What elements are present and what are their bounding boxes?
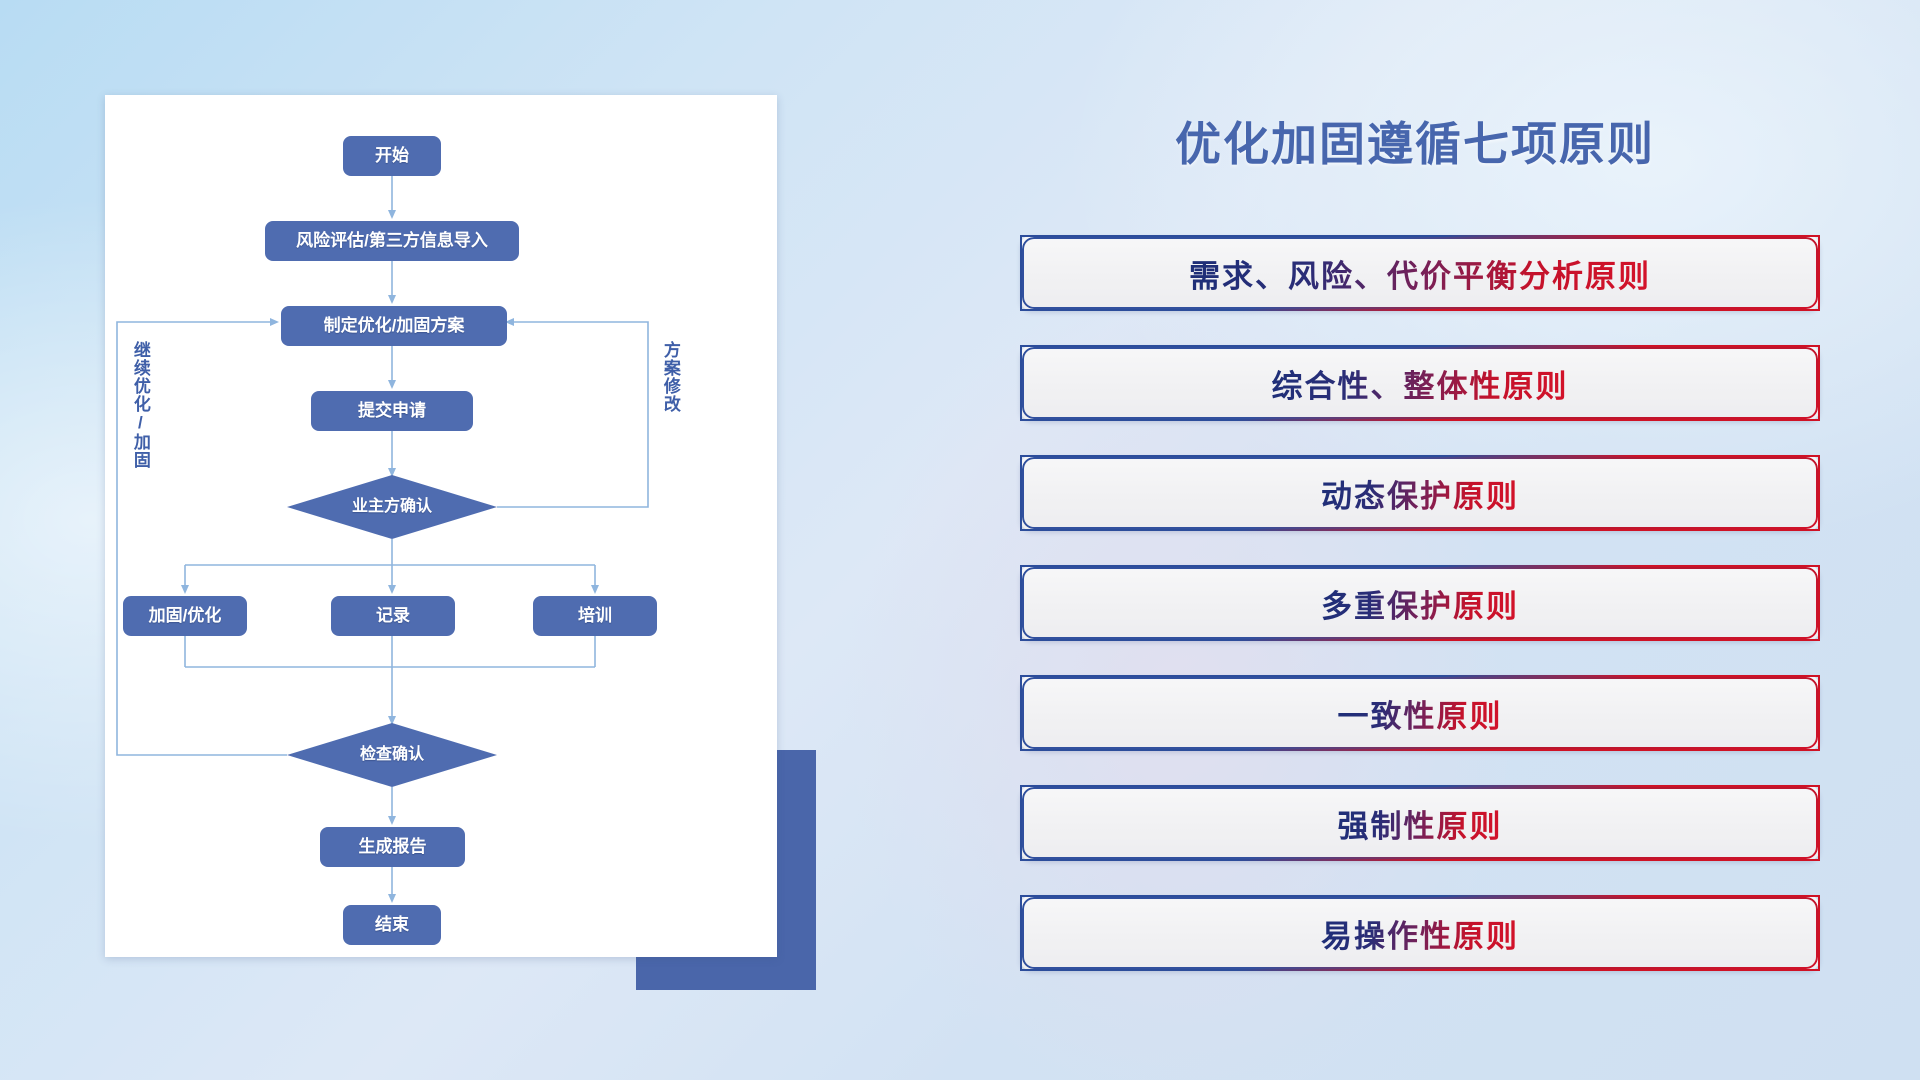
principle-label: 综合性、整体性原则 <box>1272 361 1569 406</box>
edge-label-revise-loop: 方案修改 <box>661 341 679 471</box>
node-check-confirm-shape <box>287 723 497 787</box>
node-owner-confirm-shape <box>287 475 497 539</box>
page-title: 优化加固遵循七项原则 <box>1020 108 1810 174</box>
node-risk-assessment-shape <box>265 221 519 261</box>
node-record-shape <box>331 596 455 636</box>
node-submit-shape <box>311 391 473 431</box>
edge-label-continue-loop: 继续优化/加固 <box>131 341 149 491</box>
principle-label: 动态保护原则 <box>1321 471 1519 516</box>
principle-card-5[interactable]: 一致性原则 <box>1020 675 1820 751</box>
principle-card-7[interactable]: 易操作性原则 <box>1020 895 1820 971</box>
principle-card-6[interactable]: 强制性原则 <box>1020 785 1820 861</box>
edge-owner-revise-loop <box>497 322 648 507</box>
flowchart-canvas <box>105 95 777 957</box>
principles-pane: 优化加固遵循七项原则 需求、风险、代价平衡分析原则 综合性、整体性原则 动态保护… <box>1020 0 1920 1080</box>
principle-card-4[interactable]: 多重保护原则 <box>1020 565 1820 641</box>
node-start-shape <box>343 136 441 176</box>
flowchart-card: 开始 风险评估/第三方信息导入 制定优化/加固方案 提交申请 业主方确认 加固/… <box>105 95 777 957</box>
node-training-shape <box>533 596 657 636</box>
principle-label: 多重保护原则 <box>1321 581 1519 626</box>
principle-label: 一致性原则 <box>1338 691 1503 736</box>
principle-card-2[interactable]: 综合性、整体性原则 <box>1020 345 1820 421</box>
node-plan-shape <box>281 306 507 346</box>
principle-label: 强制性原则 <box>1338 801 1503 846</box>
node-reinforce-shape <box>123 596 247 636</box>
principle-card-1[interactable]: 需求、风险、代价平衡分析原则 <box>1020 235 1820 311</box>
principle-label: 需求、风险、代价平衡分析原则 <box>1189 251 1651 296</box>
principle-card-3[interactable]: 动态保护原则 <box>1020 455 1820 531</box>
principle-list: 需求、风险、代价平衡分析原则 综合性、整体性原则 动态保护原则 多重保护原则 一… <box>1020 235 1820 1005</box>
node-report-shape <box>320 827 465 867</box>
node-end-shape <box>343 905 441 945</box>
principle-label: 易操作性原则 <box>1321 911 1519 956</box>
